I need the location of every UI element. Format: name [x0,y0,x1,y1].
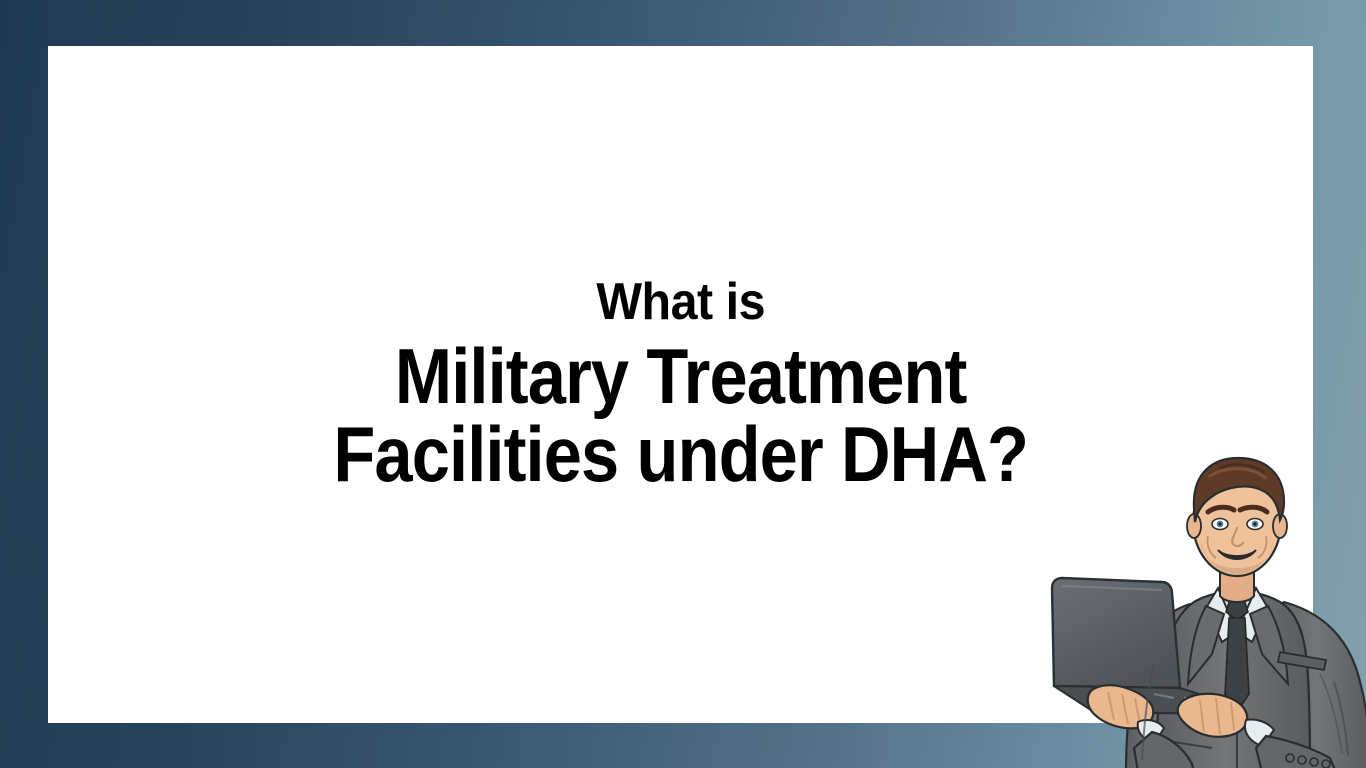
presenter-illustration [1034,436,1366,768]
slide-canvas: What is Military Treatment Facilities un… [0,0,1366,768]
businessman-with-laptop-icon [1034,436,1366,768]
